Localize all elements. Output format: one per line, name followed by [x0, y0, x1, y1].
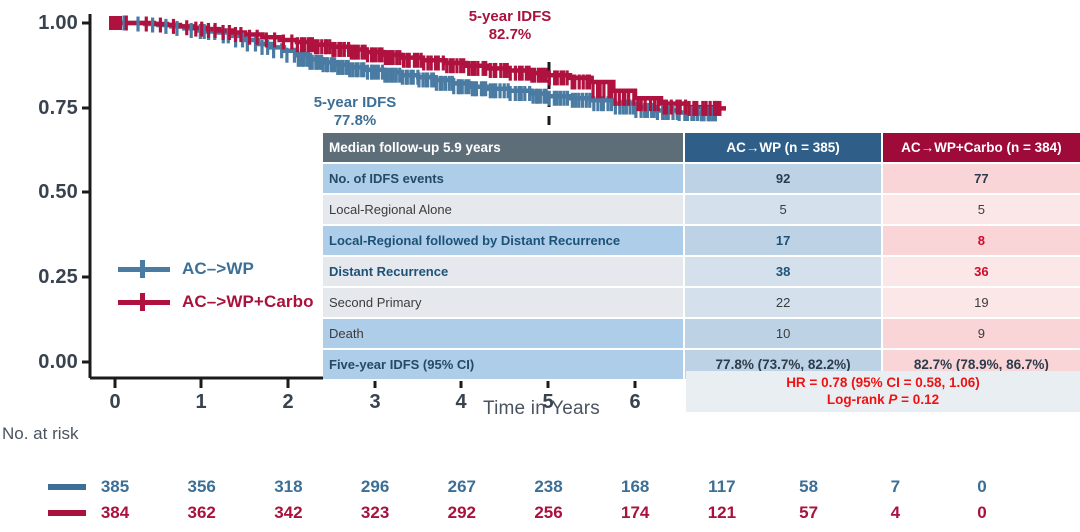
logrank-text: Log-rank P = 0.12 — [827, 392, 939, 409]
logrank-p-value: = 0.12 — [897, 392, 939, 407]
hazard-ratio-text: HR = 0.78 (95% CI = 0.58, 1.06) — [786, 375, 980, 392]
y-tick-0.50: 0.50 — [0, 181, 78, 204]
legend-swatch-carbo-icon — [118, 292, 170, 312]
row-value-carbo-death: 9 — [883, 319, 1080, 350]
row-value-carbo-distant-recurrence: 36 — [883, 257, 1080, 288]
annotation-carbo-line1: 5-year IDFS — [430, 8, 590, 26]
at-risk-value: 362 — [179, 503, 225, 523]
at-risk-value: 267 — [439, 477, 485, 497]
at-risk-value: 7 — [872, 477, 918, 497]
at-risk-value: 238 — [526, 477, 572, 497]
y-tick-0.00: 0.00 — [0, 351, 78, 374]
x-tick-1: 1 — [181, 391, 221, 414]
row-label-local-regional-alone: Local-Regional Alone — [323, 195, 685, 226]
y-tick-0.25: 0.25 — [0, 266, 78, 289]
annotation-carbo-line2: 82.7% — [430, 26, 590, 44]
at-risk-swatch-carbo-icon — [48, 510, 86, 516]
table-row: Local-Regional followed by Distant Recur… — [323, 226, 1080, 257]
x-tick-6: 6 — [615, 391, 655, 414]
at-risk-value: 58 — [786, 477, 832, 497]
at-risk-value: 384 — [92, 503, 138, 523]
annotation-carbo: 5-year IDFS 82.7% — [430, 8, 590, 45]
x-tick-4: 4 — [441, 391, 481, 414]
at-risk-value: 296 — [352, 477, 398, 497]
at-risk-value: 174 — [612, 503, 658, 523]
annotation-wp-line2: 77.8% — [290, 112, 420, 130]
row-value-wp-distant-recurrence: 38 — [685, 257, 882, 288]
row-value-wp-local-regional-distant: 17 — [685, 226, 882, 257]
at-risk-value: 385 — [92, 477, 138, 497]
legend-item-carbo[interactable]: AC–>WP+Carbo — [118, 285, 314, 318]
chart-legend: AC–>WP AC–>WP+Carbo — [118, 252, 314, 318]
at-risk-value: 342 — [265, 503, 311, 523]
row-label-local-regional-distant: Local-Regional followed by Distant Recur… — [323, 226, 685, 257]
at-risk-value: 356 — [179, 477, 225, 497]
row-value-carbo-local-regional-distant: 8 — [883, 226, 1080, 257]
legend-label-wp: AC–>WP — [182, 259, 254, 279]
at-risk-value: 318 — [265, 477, 311, 497]
at-risk-value: 0 — [959, 503, 1005, 523]
annotation-wp-line1: 5-year IDFS — [290, 94, 420, 112]
table-header-wp: AC→WP (n = 385) — [685, 133, 882, 164]
legend-item-wp[interactable]: AC–>WP — [118, 252, 314, 285]
row-value-carbo-idfs-events: 77 — [883, 164, 1080, 195]
at-risk-value: 57 — [786, 503, 832, 523]
row-label-five-year-idfs: Five-year IDFS (95% CI) — [323, 350, 685, 381]
row-value-wp-local-regional-alone: 5 — [685, 195, 882, 226]
logrank-prefix: Log-rank — [827, 392, 889, 407]
table-row: Distant Recurrence 38 36 — [323, 257, 1080, 288]
x-tick-0: 0 — [95, 391, 135, 414]
at-risk-title: No. at risk — [2, 424, 79, 444]
at-risk-value: 4 — [872, 503, 918, 523]
at-risk-value: 256 — [526, 503, 572, 523]
row-label-distant-recurrence: Distant Recurrence — [323, 257, 685, 288]
at-risk-value: 168 — [612, 477, 658, 497]
table-row: No. of IDFS events 92 77 — [323, 164, 1080, 195]
row-label-idfs-events: No. of IDFS events — [323, 164, 685, 195]
table-header-row: Median follow-up 5.9 years AC→WP (n = 38… — [323, 133, 1080, 164]
table-row: Local-Regional Alone 5 5 — [323, 195, 1080, 226]
table-row: Second Primary 22 19 — [323, 288, 1080, 319]
row-value-wp-death: 10 — [685, 319, 882, 350]
curve-start-marker — [109, 16, 122, 30]
y-tick-0.75: 0.75 — [0, 97, 78, 120]
at-risk-value: 323 — [352, 503, 398, 523]
table-row: Death 10 9 — [323, 319, 1080, 350]
x-tick-3: 3 — [355, 391, 395, 414]
legend-label-carbo: AC–>WP+Carbo — [182, 292, 314, 312]
row-value-carbo-second-primary: 19 — [883, 288, 1080, 319]
y-tick-1.00: 1.00 — [0, 12, 78, 35]
annotation-wp: 5-year IDFS 77.8% — [290, 94, 420, 131]
statistics-box: HR = 0.78 (95% CI = 0.58, 1.06) Log-rank… — [686, 371, 1080, 412]
table-header-carbo: AC→WP+Carbo (n = 384) — [883, 133, 1080, 164]
legend-swatch-wp-icon — [118, 259, 170, 279]
row-label-second-primary: Second Primary — [323, 288, 685, 319]
row-label-death: Death — [323, 319, 685, 350]
x-tick-2: 2 — [268, 391, 308, 414]
at-risk-swatch-wp-icon — [48, 484, 86, 490]
at-risk-value: 117 — [699, 477, 745, 497]
at-risk-value: 121 — [699, 503, 745, 523]
row-value-wp-idfs-events: 92 — [685, 164, 882, 195]
summary-table: Median follow-up 5.9 years AC→WP (n = 38… — [323, 133, 1080, 381]
at-risk-value: 0 — [959, 477, 1005, 497]
at-risk-value: 292 — [439, 503, 485, 523]
row-value-wp-second-primary: 22 — [685, 288, 882, 319]
x-axis-title: Time in Years — [483, 398, 600, 420]
table-header-label: Median follow-up 5.9 years — [323, 133, 685, 164]
row-value-carbo-local-regional-alone: 5 — [883, 195, 1080, 226]
